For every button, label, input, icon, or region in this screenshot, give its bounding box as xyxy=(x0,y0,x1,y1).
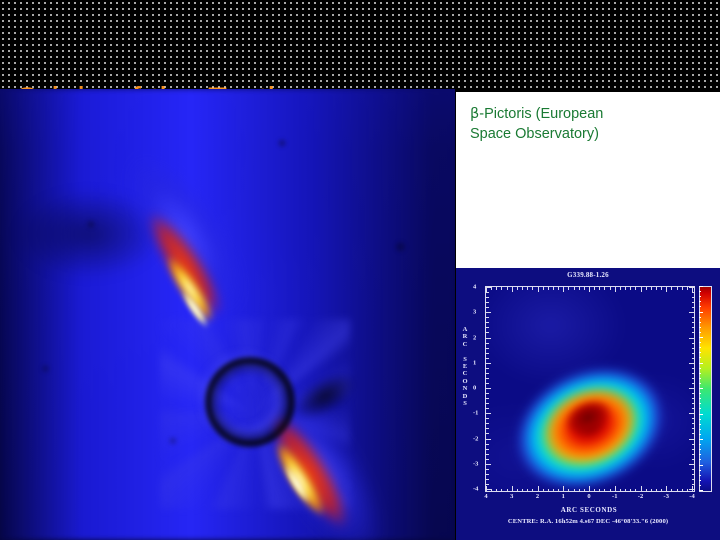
plot-ytick-label: 2 xyxy=(473,334,476,341)
slide-header: Origin of the Earth Planet Formation xyxy=(0,0,720,89)
g339-heatmap-plot: G339.88-1.26 43210-1-2-3-4 43210-1-2-3-4… xyxy=(456,268,720,540)
plot-yaxis-title-letter: E xyxy=(460,363,470,370)
plot-ticks-right xyxy=(689,287,694,491)
plot-xtick-label: 2 xyxy=(536,493,539,500)
plot-xtick-label: -2 xyxy=(638,493,643,500)
caption-label: β-Pictoris (European Space Observatory) xyxy=(470,104,700,144)
plot-ytick-label: 4 xyxy=(473,284,476,291)
plot-xtick-label: 3 xyxy=(510,493,513,500)
plot-xtick-label: -3 xyxy=(664,493,669,500)
plot-yaxis-title-letter: S xyxy=(460,356,470,363)
image-speckle-noise xyxy=(0,89,455,540)
plot-ticks-top xyxy=(486,287,694,292)
plot-ytick-label: -4 xyxy=(473,486,478,493)
plot-xtick-label: 0 xyxy=(587,493,590,500)
plot-xtick-label: 1 xyxy=(562,493,565,500)
caption-panel: β-Pictoris (European Space Observatory) xyxy=(456,92,720,268)
plot-yaxis-title-letter: C xyxy=(460,370,470,377)
plot-yaxis-title-letter: O xyxy=(460,378,470,385)
plot-xtick-label: -4 xyxy=(689,493,694,500)
plot-yaxis-title-letter: C xyxy=(460,341,470,348)
caption-line-2: Space Observatory) xyxy=(470,126,599,142)
caption-line-1: -Pictoris (European xyxy=(479,106,603,122)
plot-yaxis-title: ARC SECONDS xyxy=(460,326,470,407)
plot-frame xyxy=(485,286,695,492)
plot-ticks-bottom xyxy=(486,486,694,491)
plot-yaxis-title-letter xyxy=(460,348,470,355)
plot-ytick-label: 0 xyxy=(473,385,476,392)
plot-ytick-label: -1 xyxy=(473,410,478,417)
plot-yaxis-title-letter: R xyxy=(460,333,470,340)
plot-yaxis-title-letter: A xyxy=(460,326,470,333)
plot-ytick-label: 3 xyxy=(473,309,476,316)
plot-ytick-label: -3 xyxy=(473,460,478,467)
plot-ytick-label: -2 xyxy=(473,435,478,442)
plot-ytick-label: 1 xyxy=(473,359,476,366)
plot-xtick-label: 4 xyxy=(484,493,487,500)
greek-beta-symbol: β xyxy=(470,106,479,122)
plot-yaxis-title-letter: N xyxy=(460,385,470,392)
beta-pictoris-image xyxy=(0,89,455,540)
plot-title: G339.88-1.26 xyxy=(456,271,720,279)
plot-xaxis-title: ARC SECONDS xyxy=(485,506,693,514)
plot-ticks-left xyxy=(486,287,491,491)
plot-footnote: CENTRE: R.A. 16h52m 4.s67 DEC -46°08'33.… xyxy=(456,518,720,525)
plot-xtick-label: -1 xyxy=(612,493,617,500)
plot-colorbar-ticks xyxy=(699,286,704,490)
plot-yaxis-title-letter: D xyxy=(460,393,470,400)
presentation-slide: Origin of the Earth Planet Formation β-P… xyxy=(0,0,720,540)
plot-yaxis-title-letter: S xyxy=(460,400,470,407)
